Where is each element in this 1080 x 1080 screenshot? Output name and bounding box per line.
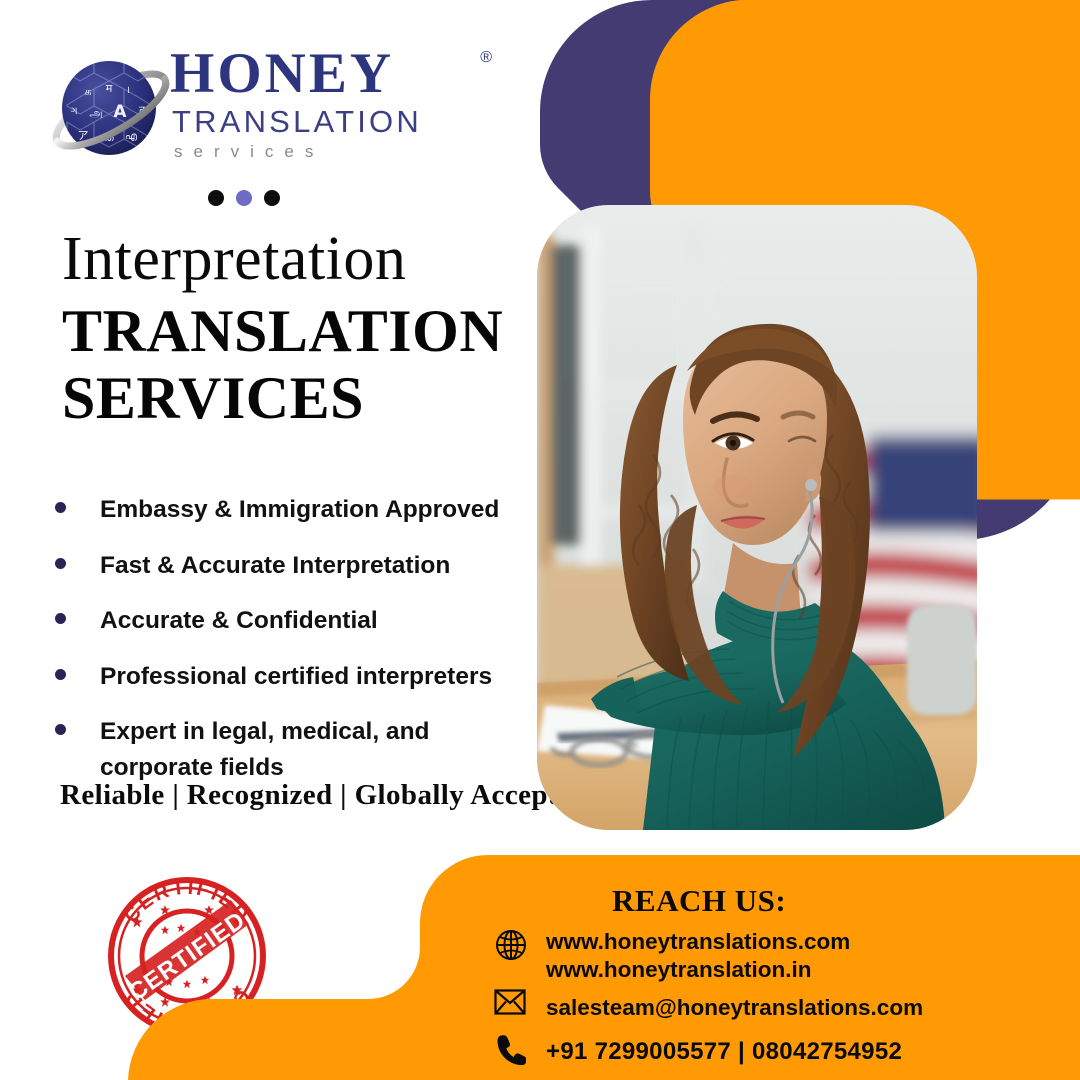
list-item-label: Expert in legal, medical, and corporate … <box>100 714 460 785</box>
phone-numbers[interactable]: +91 7299005577 | 08042754952 <box>546 1037 902 1067</box>
bullet-dot-icon <box>55 558 66 569</box>
svg-text:ગ: ગ <box>70 106 77 117</box>
phone-icon <box>494 1033 532 1071</box>
feature-list: Embassy & Immigration Approved Fast & Ac… <box>55 492 555 805</box>
website-1[interactable]: www.honeytranslations.com <box>546 928 850 956</box>
registered-trademark-icon: ® <box>480 49 492 67</box>
list-item-label: Embassy & Immigration Approved <box>100 492 499 528</box>
svg-text:க: க <box>84 85 91 98</box>
website-list[interactable]: www.honeytranslations.com www.honeytrans… <box>546 928 850 984</box>
envelope-icon <box>494 989 532 1027</box>
svg-text:அ: அ <box>89 106 102 120</box>
page-title: Interpretation TRANSLATION SERVICES <box>62 228 532 432</box>
bullet-dot-icon <box>55 669 66 680</box>
hero-photo <box>537 205 977 830</box>
divider-dot-3 <box>264 190 280 206</box>
tagline: Reliable | Recognized | Globally Accepte… <box>60 779 588 812</box>
list-item-label: Professional certified interpreters <box>100 659 492 695</box>
list-item: Fast & Accurate Interpretation <box>55 548 555 584</box>
list-item: Expert in legal, medical, and corporate … <box>55 714 555 785</box>
list-item: Embassy & Immigration Approved <box>55 492 555 528</box>
email-address[interactable]: salesteam@honeytranslations.com <box>546 994 923 1022</box>
logo-name-primary: HONEY <box>170 45 394 103</box>
bullet-dot-icon <box>55 724 66 735</box>
bullet-dot-icon <box>55 502 66 513</box>
svg-text:।: । <box>126 85 130 96</box>
logo-name-tertiary: services <box>174 143 470 162</box>
globe-icon <box>494 937 532 975</box>
globe-languages-icon: க म । ગ அ A त ア ഞ എ <box>52 51 170 169</box>
divider-dot-2 <box>236 190 252 206</box>
divider-dots <box>208 190 280 206</box>
contact-row-phone[interactable]: +91 7299005577 | 08042754952 <box>494 1033 902 1071</box>
list-item: Accurate & Confidential <box>55 603 555 639</box>
svg-text:A: A <box>113 102 127 122</box>
bullet-dot-icon <box>55 613 66 624</box>
reach-us-heading: REACH US: <box>612 883 786 919</box>
contact-row-website[interactable]: www.honeytranslations.com www.honeytrans… <box>494 928 850 984</box>
headline-script-line: Interpretation <box>62 228 532 290</box>
headline-bold-line-2: SERVICES <box>62 365 532 432</box>
contact-panel: REACH US: www.honeytranslations.com www.… <box>0 855 1080 1080</box>
svg-text:म: म <box>106 82 113 95</box>
brand-logo[interactable]: க म । ગ அ A त ア ഞ എ HONEY® TRANSLA <box>52 45 472 180</box>
headline-bold: TRANSLATION SERVICES <box>62 298 532 432</box>
headline-bold-line-1: TRANSLATION <box>62 298 532 365</box>
logo-wordmark: HONEY® TRANSLATION services <box>170 45 470 162</box>
svg-text:എ: എ <box>125 131 138 142</box>
logo-name-secondary: TRANSLATION <box>172 105 470 139</box>
list-item-label: Accurate & Confidential <box>100 603 378 639</box>
list-item-label: Fast & Accurate Interpretation <box>100 548 450 584</box>
divider-dot-1 <box>208 190 224 206</box>
poster-canvas: க म । ગ அ A त ア ഞ എ HONEY® TRANSLA <box>0 0 1080 1080</box>
contact-row-email[interactable]: salesteam@honeytranslations.com <box>494 989 923 1027</box>
list-item: Professional certified interpreters <box>55 659 555 695</box>
website-2[interactable]: www.honeytranslation.in <box>546 956 850 984</box>
